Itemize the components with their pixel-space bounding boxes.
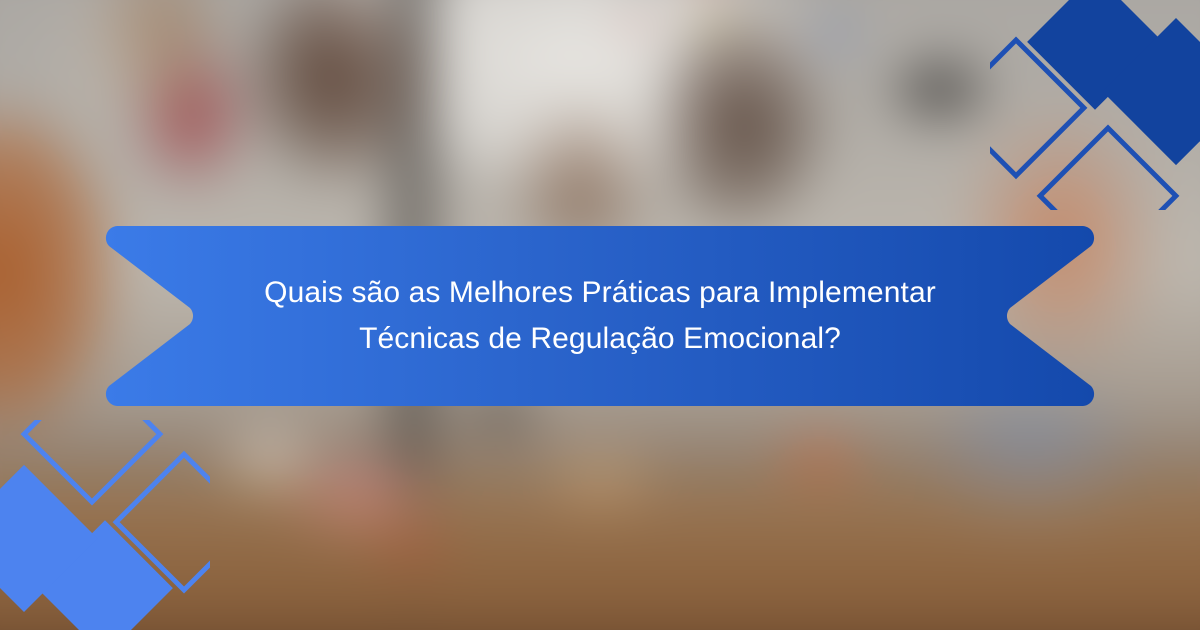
- banner-canvas: Quais são as Melhores Práticas para Impl…: [0, 0, 1200, 630]
- title-ribbon: Quais são as Melhores Práticas para Impl…: [105, 226, 1095, 406]
- banner-title: Quais são as Melhores Práticas para Impl…: [105, 226, 1095, 406]
- banner-title-line-1: Quais são as Melhores Práticas para Impl…: [264, 270, 936, 316]
- banner-title-line-2: Técnicas de Regulação Emocional?: [359, 316, 841, 362]
